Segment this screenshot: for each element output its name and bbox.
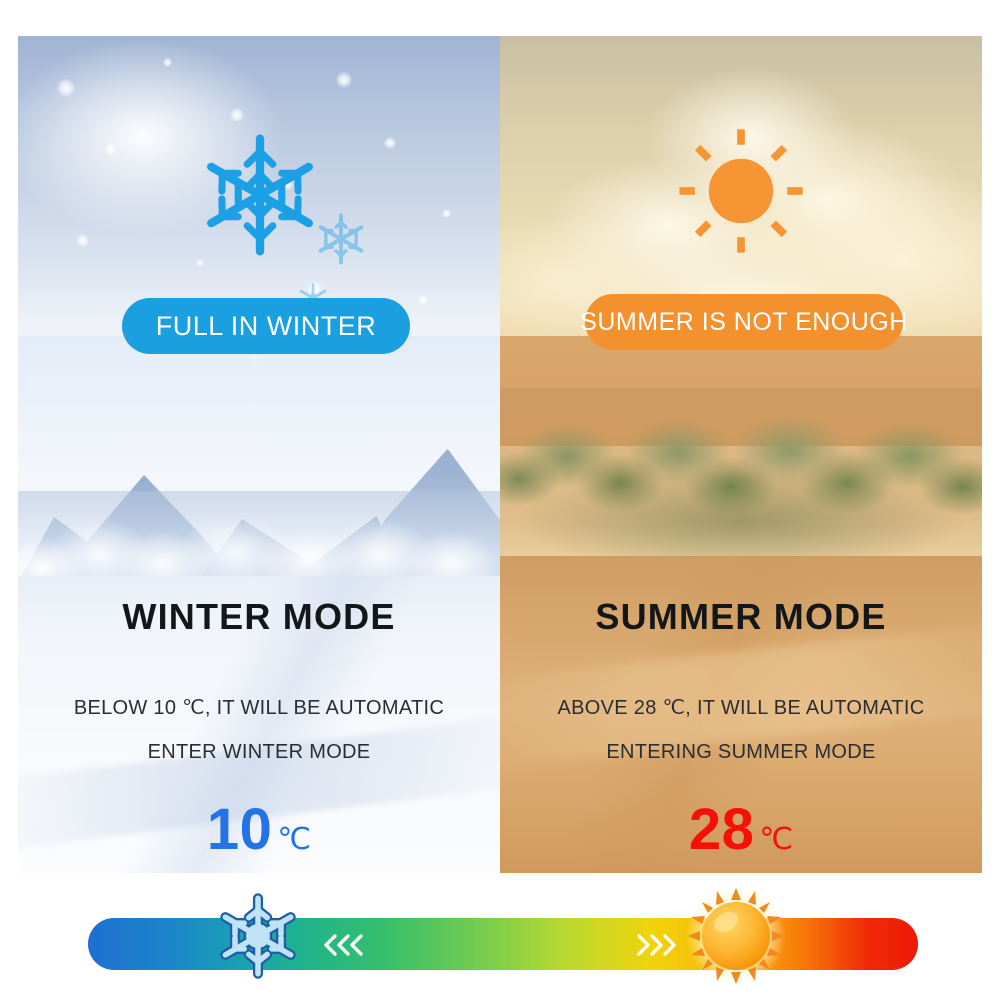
winter-badge[interactable]: FULL IN WINTER (122, 298, 410, 354)
summer-text-block: SUMMER MODE ABOVE 28 ℃, IT WILL BE AUTOM… (500, 596, 982, 863)
winter-text-block: WINTER MODE BELOW 10 ℃, IT WILL BE AUTOM… (18, 596, 500, 863)
winter-mode-description: BELOW 10 ℃, IT WILL BE AUTOMATIC ENTER W… (18, 686, 500, 774)
snowflake-icon-secondary (313, 211, 369, 272)
summer-temp-unit: ℃ (759, 822, 793, 857)
winter-temperature: 10 ℃ (18, 796, 500, 863)
summer-temp-value: 28 (689, 796, 755, 863)
summer-mode-description: ABOVE 28 ℃, IT WILL BE AUTOMATIC ENTERIN… (500, 686, 982, 774)
season-mode-poster: FULL IN WINTER WINTER MODE BELOW 10 ℃, I… (0, 0, 1000, 1000)
desert-scrub-bushes (500, 388, 982, 578)
snow-haze (18, 336, 500, 476)
summer-badge[interactable]: SUMMER IS NOT ENOUGH (585, 294, 903, 350)
summer-icon-group (500, 121, 982, 266)
season-panels: FULL IN WINTER WINTER MODE BELOW 10 ℃, I… (18, 36, 982, 873)
summer-temperature: 28 ℃ (500, 796, 982, 863)
summer-mode-title: SUMMER MODE (500, 596, 982, 638)
winter-temp-value: 10 (207, 796, 273, 863)
summer-desc-line-1: ABOVE 28 ℃, IT WILL BE AUTOMATIC (500, 686, 982, 730)
summer-desc-line-2: ENTERING SUMMER MODE (500, 730, 982, 774)
slider-sun-icon (686, 886, 786, 991)
summer-badge-label: SUMMER IS NOT ENOUGH (580, 308, 908, 337)
winter-temp-unit: ℃ (277, 822, 311, 857)
slider-snowflake-icon (212, 890, 304, 987)
snowflake-icon (196, 131, 324, 264)
sun-icon (671, 121, 811, 266)
winter-panel: FULL IN WINTER WINTER MODE BELOW 10 ℃, I… (18, 36, 500, 873)
chevron-left-triple-icon (322, 930, 368, 960)
winter-icon-group (18, 111, 500, 301)
winter-desc-line-1: BELOW 10 ℃, IT WILL BE AUTOMATIC (18, 686, 500, 730)
winter-desc-line-2: ENTER WINTER MODE (18, 730, 500, 774)
winter-mode-title: WINTER MODE (18, 596, 500, 638)
winter-badge-label: FULL IN WINTER (156, 311, 377, 342)
summer-panel: SUMMER IS NOT ENOUGH SUMMER MODE ABOVE 2… (500, 36, 982, 873)
chevron-right-triple-icon (632, 930, 678, 960)
